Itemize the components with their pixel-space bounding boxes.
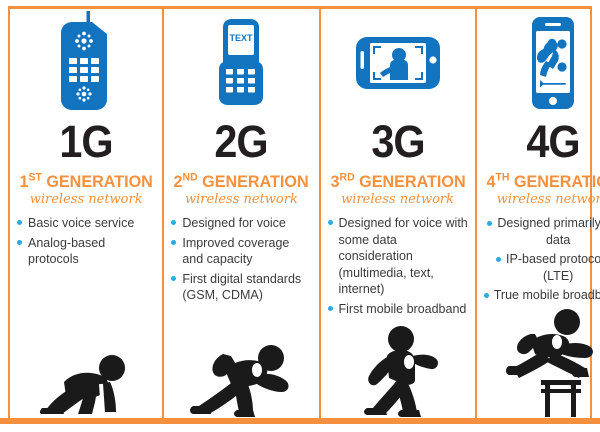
generation-subtitle: wireless network <box>30 193 143 206</box>
list-item-label: Designed primarily for data <box>497 216 600 247</box>
bullet-dot-icon <box>171 240 176 245</box>
generation-column-2g: TEXT 2G 2ND GENERATION <box>162 9 318 418</box>
generation-ordinal-suffix: ST <box>29 171 42 183</box>
list-item: Designed for voice with some data consid… <box>327 215 469 298</box>
flip-phone-text-icon: TEXT <box>215 9 267 115</box>
list-item-label: First digital standards (GSM, CDMA) <box>182 272 301 303</box>
list-item: First digital standards (GSM, CDMA) <box>170 271 312 304</box>
bullet-dot-icon <box>484 293 489 298</box>
generation-ordinal: 3 <box>330 172 339 191</box>
brick-phone-icon <box>55 9 117 115</box>
generation-numeral: 1G <box>59 119 112 164</box>
bullet-dot-icon <box>328 220 333 225</box>
bullet-dot-icon <box>487 221 492 226</box>
list-item: IP-based protocols (LTE) <box>483 251 600 284</box>
list-item: First mobile broadband <box>327 301 469 318</box>
generation-numeral: 4G <box>526 119 579 164</box>
generation-column-4g: 4G 4TH GENERATION wireless network Desig… <box>475 9 600 418</box>
bullet-dot-icon <box>328 306 333 311</box>
generations-infographic: 1G 1ST GENERATION wireless network Basic… <box>0 0 600 432</box>
generation-column-3g: 3G 3RD GENERATION wireless network Desig… <box>319 9 475 418</box>
feature-list: Designed for voice Improved coverage and… <box>170 215 312 307</box>
list-item-label: Designed for voice with some data consid… <box>339 216 468 296</box>
feature-list: Designed for voice with some data consid… <box>327 215 469 320</box>
svg-text:TEXT: TEXT <box>230 33 254 43</box>
bullet-dot-icon <box>171 220 176 225</box>
list-item: True mobile broadband <box>483 287 600 304</box>
generation-title: 1ST GENERATION <box>20 173 153 190</box>
list-item-label: IP-based protocols (LTE) <box>506 252 600 283</box>
bullet-dot-icon <box>171 276 176 281</box>
generation-title-rest: GENERATION <box>509 172 600 191</box>
generation-title: 4TH GENERATION <box>486 173 600 190</box>
list-item-label: Improved coverage and capacity <box>182 236 289 267</box>
hurdle-jumper-icon <box>477 308 600 418</box>
feature-list: Basic voice service Analog-based protoco… <box>16 215 156 271</box>
list-item: Basic voice service <box>16 215 156 232</box>
list-item-label: First mobile broadband <box>339 302 467 316</box>
generation-ordinal-suffix: ND <box>183 171 198 183</box>
running-person-icon <box>164 334 318 418</box>
generation-subtitle: wireless network <box>341 193 454 206</box>
generation-title: 2ND GENERATION <box>174 173 309 190</box>
frame-bottom-border <box>0 418 600 424</box>
list-item: Designed primarily for data <box>483 215 600 248</box>
list-item-label: Basic voice service <box>28 216 134 230</box>
list-item: Analog-based protocols <box>16 235 156 268</box>
video-call-smartphone-icon <box>350 9 446 115</box>
generation-numeral: 2G <box>215 119 268 164</box>
generation-ordinal-suffix: RD <box>339 171 354 183</box>
generation-subtitle: wireless network <box>497 193 600 206</box>
generation-numeral: 3G <box>371 119 424 164</box>
bullet-dot-icon <box>17 220 22 225</box>
generation-title: 3RD GENERATION <box>330 173 465 190</box>
feature-list: Designed primarily for data IP-based pro… <box>483 215 600 307</box>
generation-subtitle: wireless network <box>185 193 298 206</box>
bullet-dot-icon <box>17 240 22 245</box>
list-item-label: Designed for voice <box>182 216 286 230</box>
generation-columns: 1G 1ST GENERATION wireless network Basic… <box>10 9 590 418</box>
list-item: Designed for voice <box>170 215 312 232</box>
generation-column-1g: 1G 1ST GENERATION wireless network Basic… <box>10 9 162 418</box>
walking-person-icon <box>321 322 475 418</box>
crawling-person-icon <box>10 344 162 418</box>
streaming-video-smartphone-icon <box>524 9 582 115</box>
list-item-label: True mobile broadband <box>494 288 600 302</box>
list-item: Improved coverage and capacity <box>170 235 312 268</box>
generation-title-rest: GENERATION <box>354 172 465 191</box>
generation-ordinal: 4 <box>486 172 495 191</box>
generation-title-rest: GENERATION <box>198 172 309 191</box>
list-item-label: Analog-based protocols <box>28 236 105 267</box>
bullet-dot-icon <box>496 257 501 262</box>
generation-title-rest: GENERATION <box>42 172 153 191</box>
generation-ordinal-suffix: TH <box>495 171 509 183</box>
